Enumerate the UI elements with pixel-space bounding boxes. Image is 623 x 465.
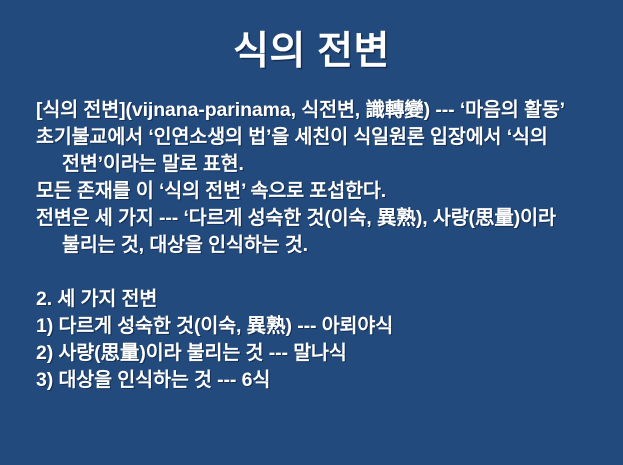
body-heading-three-transformations: 2. 세 가지 전변 — [36, 286, 592, 313]
slide-body: [식의 전변](vijnana-parinama, 식전변, 識轉變) --- … — [36, 97, 592, 394]
body-paragraph-early-buddhism: 초기불교에서 ‘인연소생의 법’을 세친이 식일원론 입장에서 ‘식의 전변’이… — [36, 124, 592, 178]
body-list-item-3: 3) 대상을 인식하는 것 --- 6식 — [36, 367, 592, 394]
page-title: 식의 전변 — [0, 29, 623, 75]
slide-canvas: 식의 전변 [식의 전변](vijnana-parinama, 식전변, 識轉變… — [0, 0, 623, 465]
body-paragraph-three-kinds: 전변은 세 가지 --- ‘다르게 성숙한 것(이숙, 異熟), 사량(思量)이… — [36, 205, 592, 259]
body-paragraph-all-existence: 모든 존재를 이 ‘식의 전변’ 속으로 포섭한다. — [36, 178, 592, 205]
body-list-item-1: 1) 다르게 성숙한 것(이숙, 異熟) --- 아뢰야식 — [36, 313, 592, 340]
body-paragraph-definition: [식의 전변](vijnana-parinama, 식전변, 識轉變) --- … — [36, 97, 592, 124]
body-list-item-2: 2) 사량(思量)이라 불리는 것 --- 말나식 — [36, 340, 592, 367]
paragraph-spacer — [36, 259, 592, 286]
